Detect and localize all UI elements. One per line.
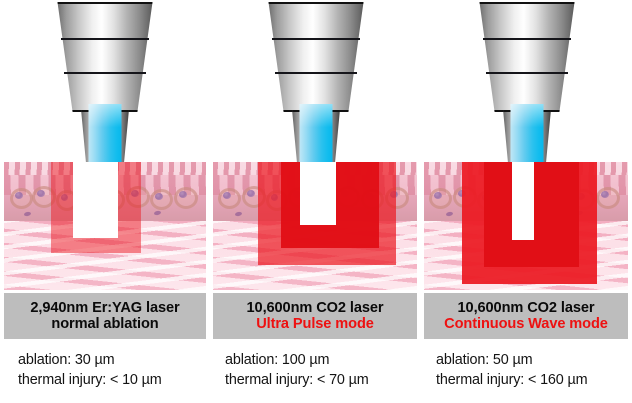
panel-stats: ablation: 50 µm thermal injury: < 160 µm — [436, 350, 632, 391]
caption-line-2: Continuous Wave mode — [444, 316, 608, 332]
fibroblast-nucleus — [235, 211, 243, 216]
skin-histology-icon — [424, 162, 628, 290]
cell-nucleus — [247, 190, 255, 197]
panel-stats: ablation: 100 µm thermal injury: < 70 µm — [225, 350, 421, 391]
handpiece-segment-line — [272, 38, 360, 40]
cell-nucleus — [223, 192, 231, 199]
fibroblast-nucleus — [154, 210, 162, 215]
ablation-crater — [73, 162, 118, 238]
handpiece-segment-line — [486, 72, 568, 74]
cell-ring — [10, 188, 33, 209]
handpiece-segment-line — [64, 72, 146, 74]
cell-ring — [429, 188, 452, 209]
handpiece-segment-line — [275, 72, 357, 74]
panel-co2-continuous-wave: 10,600nm CO2 laser Continuous Wave mode … — [422, 0, 632, 403]
cell-nucleus — [155, 193, 163, 200]
handpiece-segment-line — [61, 38, 149, 40]
panel-caption: 10,600nm CO2 laser Continuous Wave mode — [424, 293, 628, 339]
ablation-depth-text: ablation: 50 µm — [436, 350, 632, 370]
panel-er-yag: 2,940nm Er:YAG laser normal ablation abl… — [0, 0, 210, 403]
skin-histology-icon — [213, 162, 417, 290]
thermal-injury-text: thermal injury: < 160 µm — [436, 370, 632, 390]
laser-comparison-figure: 2,940nm Er:YAG laser normal ablation abl… — [0, 0, 632, 403]
ablation-depth-text: ablation: 100 µm — [225, 350, 421, 370]
cell-nucleus — [179, 191, 187, 198]
ablation-crater — [300, 162, 336, 225]
panel-caption: 10,600nm CO2 laser Ultra Pulse mode — [213, 293, 417, 339]
ablation-depth-text: ablation: 30 µm — [18, 350, 214, 370]
caption-line-1: 10,600nm CO2 laser — [247, 300, 384, 316]
cell-nucleus — [601, 191, 609, 198]
cell-ring — [150, 189, 173, 210]
fibroblast-nucleus — [446, 211, 454, 216]
panel-co2-ultra-pulse: 10,600nm CO2 laser Ultra Pulse mode abla… — [211, 0, 421, 403]
caption-line-2: Ultra Pulse mode — [256, 316, 374, 332]
skin-histology-icon — [4, 162, 206, 290]
handpiece-cone-outline — [473, 2, 581, 112]
cell-nucleus — [37, 190, 45, 197]
cell-ring — [218, 188, 241, 209]
panel-caption: 2,940nm Er:YAG laser normal ablation — [4, 293, 206, 339]
thermal-injury-text: thermal injury: < 70 µm — [225, 370, 421, 390]
cell-ring — [596, 187, 620, 209]
caption-line-2: normal ablation — [51, 316, 158, 332]
caption-line-1: 2,940nm Er:YAG laser — [30, 300, 179, 316]
handpiece-segment-line — [483, 38, 571, 40]
handpiece-cone-outline — [51, 2, 159, 112]
panel-stats: ablation: 30 µm thermal injury: < 10 µm — [18, 350, 214, 391]
handpiece-cone-outline — [262, 2, 370, 112]
caption-line-1: 10,600nm CO2 laser — [458, 300, 595, 316]
cell-nucleus — [15, 192, 23, 199]
ablation-crater — [512, 162, 534, 240]
thermal-injury-text: thermal injury: < 10 µm — [18, 370, 214, 390]
cell-ring — [174, 187, 198, 209]
cell-nucleus — [434, 192, 442, 199]
fibroblast-nucleus — [24, 211, 32, 216]
